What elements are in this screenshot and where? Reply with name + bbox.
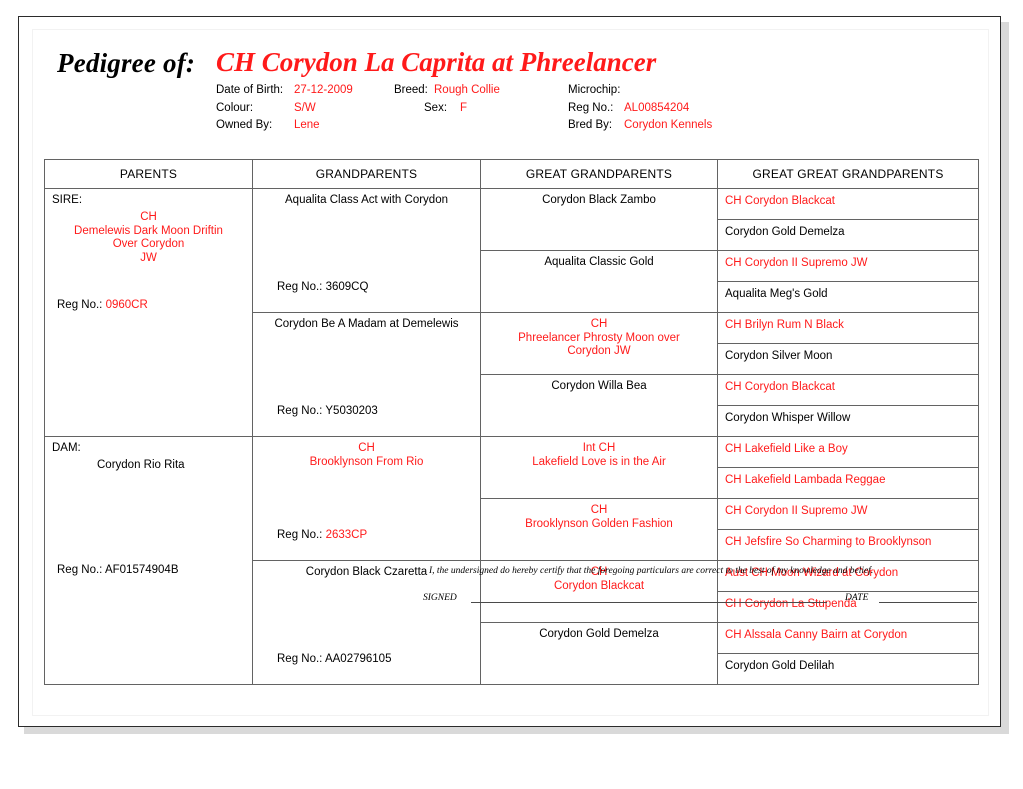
cell-great-grandparent-8: Corydon Gold Demelza xyxy=(481,623,718,685)
column-header-great-great-grandparents: GREAT GREAT GRANDPARENTS xyxy=(718,160,979,189)
cell-great-grandparent-3: CH Phreelancer Phrosty Moon over Corydon… xyxy=(481,313,718,375)
grandparent-4-regno-label: Reg No.: xyxy=(277,653,322,665)
great-grandparent-2-name: Aqualita Classic Gold xyxy=(481,256,717,270)
cell-great-great-grandparent-16: Corydon Gold Delilah xyxy=(718,654,979,685)
grandparent-1-name: Aqualita Class Act with Corydon xyxy=(253,194,480,208)
great-great-grandparent-3-name: CH Corydon II Supremo JW xyxy=(725,257,868,270)
cell-grandparent-2: Corydon Be A Madam at Demelewis Reg No.:… xyxy=(253,313,481,437)
cell-great-grandparent-6: CH Brooklynson Golden Fashion xyxy=(481,499,718,561)
bred-by-label: Bred By: xyxy=(568,119,612,131)
cell-great-great-grandparent-1: CH Corydon Blackcat xyxy=(718,189,979,220)
dam-regno-value: AF01574904B xyxy=(105,564,179,576)
column-header-parents: PARENTS xyxy=(45,160,253,189)
cell-great-great-grandparent-4: Aqualita Meg's Gold xyxy=(718,282,979,313)
great-great-grandparent-7-name: CH Corydon Blackcat xyxy=(725,381,835,394)
details-row-3: Owned By: Lene Bred By: Corydon Kennels xyxy=(216,119,976,137)
column-header-grandparents: GRANDPARENTS xyxy=(253,160,481,189)
pedigree-table: PARENTS GRANDPARENTS GREAT GRANDPARENTS … xyxy=(44,159,979,685)
cell-great-great-grandparent-6: Corydon Silver Moon xyxy=(718,344,979,375)
colour-value: S/W xyxy=(294,102,316,114)
great-great-grandparent-5-name: CH Brilyn Rum N Black xyxy=(725,319,844,332)
great-grandparent-8-name: Corydon Gold Demelza xyxy=(481,628,717,642)
cell-great-great-grandparent-5: CH Brilyn Rum N Black xyxy=(718,313,979,344)
cell-grandparent-3: CH Brooklynson From Rio Reg No.: 2633CP xyxy=(253,437,481,561)
colour-label: Colour: xyxy=(216,102,253,114)
great-great-grandparent-8-name: Corydon Whisper Willow xyxy=(725,412,850,425)
certification-statement: I, the undersigned do hereby certify tha… xyxy=(429,566,873,576)
column-header-great-grandparents: GREAT GRANDPARENTS xyxy=(481,160,718,189)
dob-label: Date of Birth: xyxy=(216,84,283,96)
dob-value: 27-12-2009 xyxy=(294,84,353,96)
cell-great-great-grandparent-12: CH Jefsfire So Charming to Brooklynson xyxy=(718,530,979,561)
sex-label: Sex: xyxy=(424,102,447,114)
great-great-grandparent-6-name: Corydon Silver Moon xyxy=(725,350,832,363)
sire-regno-value: 0960CR xyxy=(106,299,148,311)
cell-great-grandparent-5: Int CH Lakefield Love is in the Air xyxy=(481,437,718,499)
great-great-grandparent-4-name: Aqualita Meg's Gold xyxy=(725,288,828,301)
cell-great-grandparent-1: Corydon Black Zambo xyxy=(481,189,718,251)
grandparent-4-regno: Reg No.: AA02796105 xyxy=(277,653,391,665)
bred-by-value: Corydon Kennels xyxy=(624,119,712,131)
great-great-grandparent-16-name: Corydon Gold Delilah xyxy=(725,660,834,673)
breed-label: Breed: xyxy=(394,84,428,96)
pedigree-of-label: Pedigree of: xyxy=(57,48,195,79)
date-label: DATE xyxy=(845,593,868,603)
signature-line[interactable] xyxy=(471,602,827,603)
great-great-grandparent-14-name: CH Corydon La Stupenda xyxy=(725,598,857,611)
cell-great-grandparent-4: Corydon Willa Bea xyxy=(481,375,718,437)
dam-regno: Reg No.: AF01574904B xyxy=(57,564,179,576)
great-great-grandparent-11-name: CH Corydon II Supremo JW xyxy=(725,505,868,518)
date-line[interactable] xyxy=(879,602,977,603)
pedigree-sheet: Pedigree of: CH Corydon La Caprita at Ph… xyxy=(32,29,989,716)
great-grandparent-1-name: Corydon Black Zambo xyxy=(481,194,717,208)
cell-great-great-grandparent-7: CH Corydon Blackcat xyxy=(718,375,979,406)
grandparent-4-regno-value: AA02796105 xyxy=(325,653,392,665)
cell-grandparent-1: Aqualita Class Act with Corydon Reg No.:… xyxy=(253,189,481,313)
regno-label: Reg No.: xyxy=(568,102,613,114)
microchip-label: Microchip: xyxy=(568,84,620,96)
cell-great-great-grandparent-11: CH Corydon II Supremo JW xyxy=(718,499,979,530)
great-great-grandparent-10-name: CH Lakefield Lambada Reggae xyxy=(725,474,885,487)
grandparent-1-regno-value: 3609CQ xyxy=(326,281,369,293)
sex-value: F xyxy=(460,102,467,114)
cell-great-great-grandparent-10: CH Lakefield Lambada Reggae xyxy=(718,468,979,499)
details-row-1: Date of Birth: 27-12-2009 Breed: Rough C… xyxy=(216,84,976,102)
great-great-grandparent-2-name: Corydon Gold Demelza xyxy=(725,226,845,239)
grandparent-2-regno-label: Reg No.: xyxy=(277,405,322,417)
sire-regno: Reg No.: 0960CR xyxy=(57,299,148,311)
grandparent-1-regno: Reg No.: 3609CQ xyxy=(277,281,368,293)
dog-details-block: Date of Birth: 27-12-2009 Breed: Rough C… xyxy=(216,84,976,137)
sire-name: CH Demelewis Dark Moon Driftin Over Cory… xyxy=(45,211,252,265)
cell-great-great-grandparent-9: CH Lakefield Like a Boy xyxy=(718,437,979,468)
document-header: Pedigree of: CH Corydon La Caprita at Ph… xyxy=(33,30,990,152)
owned-by-label: Owned By: xyxy=(216,119,272,131)
great-great-grandparent-1-name: CH Corydon Blackcat xyxy=(725,195,835,208)
great-grandparent-3-name: CH Phreelancer Phrosty Moon over Corydon… xyxy=(481,318,717,359)
dam-role-label: DAM: xyxy=(52,442,81,454)
great-grandparent-4-name: Corydon Willa Bea xyxy=(481,380,717,394)
great-great-grandparent-12-name: CH Jefsfire So Charming to Brooklynson xyxy=(725,536,931,549)
great-great-grandparent-15-name: CH Alssala Canny Bairn at Corydon xyxy=(725,629,907,642)
grandparent-3-regno: Reg No.: 2633CP xyxy=(277,529,367,541)
owned-by-value: Lene xyxy=(294,119,320,131)
cell-great-grandparent-2: Aqualita Classic Gold xyxy=(481,251,718,313)
dam-regno-label: Reg No.: xyxy=(57,564,102,576)
cell-great-great-grandparent-2: Corydon Gold Demelza xyxy=(718,220,979,251)
grandparent-2-name: Corydon Be A Madam at Demelewis xyxy=(253,318,480,332)
table-header-row: PARENTS GRANDPARENTS GREAT GRANDPARENTS … xyxy=(45,160,979,189)
pedigree-document-page: Pedigree of: CH Corydon La Caprita at Ph… xyxy=(18,16,1001,727)
cell-parent-dam: DAM: Corydon Rio Rita Reg No.: AF0157490… xyxy=(45,437,253,685)
great-grandparent-6-name: CH Brooklynson Golden Fashion xyxy=(481,504,717,531)
grandparent-2-regno: Reg No.: Y5030203 xyxy=(277,405,378,417)
cell-grandparent-4: Corydon Black Czaretta Reg No.: AA027961… xyxy=(253,561,481,685)
great-great-grandparent-9-name: CH Lakefield Like a Boy xyxy=(725,443,848,456)
dam-name: Corydon Rio Rita xyxy=(97,459,185,473)
grandparent-3-regno-label: Reg No.: xyxy=(277,529,322,541)
cell-great-great-grandparent-15: CH Alssala Canny Bairn at Corydon xyxy=(718,623,979,654)
grandparent-3-name: CH Brooklynson From Rio xyxy=(253,442,480,469)
cell-great-great-grandparent-8: Corydon Whisper Willow xyxy=(718,406,979,437)
table-row: DAM: Corydon Rio Rita Reg No.: AF0157490… xyxy=(45,437,979,468)
great-grandparent-5-name: Int CH Lakefield Love is in the Air xyxy=(481,442,717,469)
table-row: SIRE: CH Demelewis Dark Moon Driftin Ove… xyxy=(45,189,979,220)
sire-role-label: SIRE: xyxy=(52,194,82,206)
signed-label: SIGNED xyxy=(423,593,457,603)
sire-regno-label: Reg No.: xyxy=(57,299,102,311)
regno-value: AL00854204 xyxy=(624,102,689,114)
details-row-2: Colour: S/W Sex: F Reg No.: AL00854204 xyxy=(216,102,976,120)
page-title: CH Corydon La Caprita at Phreelancer xyxy=(216,47,656,78)
grandparent-2-regno-value: Y5030203 xyxy=(325,405,377,417)
grandparent-3-regno-value: 2633CP xyxy=(326,529,368,541)
breed-value: Rough Collie xyxy=(434,84,500,96)
grandparent-1-regno-label: Reg No.: xyxy=(277,281,322,293)
cell-great-great-grandparent-3: CH Corydon II Supremo JW xyxy=(718,251,979,282)
cell-parent-sire: SIRE: CH Demelewis Dark Moon Driftin Ove… xyxy=(45,189,253,437)
